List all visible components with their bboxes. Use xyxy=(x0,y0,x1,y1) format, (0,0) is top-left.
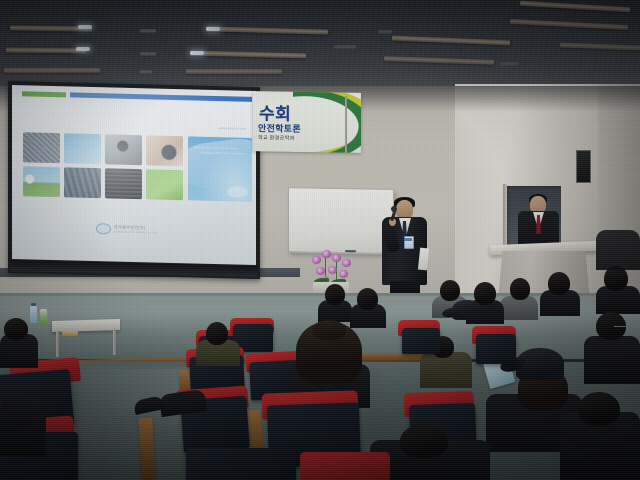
company-logo-text-block: 한국중부발전(주) KOREA MIDLAND POWER CO., LTD. xyxy=(114,225,158,235)
eyeglasses xyxy=(614,326,626,330)
slide-thumbnail-circuit xyxy=(105,168,142,199)
wall-speaker xyxy=(576,150,591,183)
ceiling-vent xyxy=(334,45,356,49)
slide-thumbnail-grid xyxy=(23,132,183,204)
audience-head xyxy=(325,284,345,305)
banner-subtitle: 학교 환경공학과 xyxy=(258,134,294,142)
audience-head xyxy=(357,288,378,310)
ceiling-light-glint xyxy=(76,47,90,51)
ceiling-light-glint xyxy=(78,25,92,29)
seat-back xyxy=(186,448,296,480)
projector-screen: www.kapco.com En xyxy=(8,81,260,279)
side-table xyxy=(52,319,120,332)
water-bottle xyxy=(30,306,37,323)
banner-title-mid: 안전학토론 xyxy=(258,121,301,135)
ceiling-vent xyxy=(500,62,518,66)
slide-thumbnail-row xyxy=(23,166,183,200)
orchid-bloom xyxy=(328,266,337,274)
seat-back xyxy=(476,334,516,364)
slide-url-text: www.kapco.com xyxy=(219,126,246,131)
audience-shoulders xyxy=(596,230,640,270)
table-leg xyxy=(113,329,116,355)
whiteboard xyxy=(288,187,394,254)
ceiling-light-fixture xyxy=(186,69,282,74)
audience-head xyxy=(548,272,570,295)
audience-head xyxy=(206,322,228,345)
orchid-bloom xyxy=(316,267,325,275)
slide-company-logo: 한국중부발전(주) KOREA MIDLAND POWER CO., LTD. xyxy=(96,223,158,236)
green-bottle xyxy=(40,309,47,325)
orchid-bloom xyxy=(322,250,331,258)
company-logo-glyph xyxy=(96,223,111,234)
ceiling-light-glint xyxy=(206,27,220,31)
water-bottle-cap xyxy=(31,303,36,306)
slide-accent-blue xyxy=(70,92,252,101)
seat-upholstery xyxy=(300,452,390,480)
slide-blue-panel: Enhancing Your Value Step Meeting With Y… xyxy=(188,136,252,202)
ceiling-vent xyxy=(140,52,156,56)
audience-shoulders xyxy=(0,398,46,456)
audience-shoulders xyxy=(584,336,640,384)
orchid-bloom xyxy=(342,259,351,267)
slide-accent-green xyxy=(22,91,66,97)
slide-top-bar xyxy=(22,91,252,102)
seminar-photograph: www.kapco.com En xyxy=(0,0,640,480)
whiteboard-marker xyxy=(345,250,356,253)
audience-head xyxy=(510,278,530,300)
slide-panel-watermark xyxy=(227,186,248,198)
ceiling-vent xyxy=(140,29,156,33)
audience-head xyxy=(578,392,620,426)
audience-head xyxy=(400,424,448,458)
audience-head xyxy=(312,320,346,340)
slide-thumbnail-crowd xyxy=(23,132,60,163)
ceiling-texture xyxy=(0,0,640,92)
slide-thumbnail-drill xyxy=(105,134,142,165)
orchid-bloom xyxy=(332,254,341,262)
slide-thumbnail-hands xyxy=(146,135,183,166)
slide-thumbnail-blue xyxy=(64,133,101,164)
banner-support-pole xyxy=(345,96,347,154)
slide-panel-text: Enhancing Your Value Step Meeting With Y… xyxy=(194,145,245,156)
name-badge-strip xyxy=(404,238,412,241)
microphone-head xyxy=(391,206,397,212)
ceiling-light-fixture xyxy=(4,68,100,73)
snack-plate xyxy=(62,331,78,336)
ceiling-light-fixture xyxy=(6,48,86,54)
seat-back xyxy=(402,328,440,354)
ceiling-light-glint xyxy=(190,51,204,55)
slide-panel-line2: Meeting With Your Success xyxy=(201,151,245,157)
slide-thumbnail-wind xyxy=(23,166,60,197)
slide-thumbnail-row xyxy=(23,132,183,166)
table-leg xyxy=(56,331,59,357)
ceiling-vent xyxy=(378,30,392,34)
orchid-bloom xyxy=(339,270,348,278)
ceiling-vent xyxy=(140,70,152,74)
audience-head xyxy=(4,318,28,340)
ceiling xyxy=(0,0,640,92)
audience-head xyxy=(440,280,460,301)
slide-thumbnail-green xyxy=(146,169,183,200)
projector-screen-surface: www.kapco.com En xyxy=(12,85,256,265)
orchid-bloom xyxy=(312,256,321,264)
banner-swoosh-graphic xyxy=(293,91,361,153)
slide-thumbnail-automation xyxy=(64,167,101,198)
company-logo-subtext: KOREA MIDLAND POWER CO., LTD. xyxy=(114,231,158,235)
